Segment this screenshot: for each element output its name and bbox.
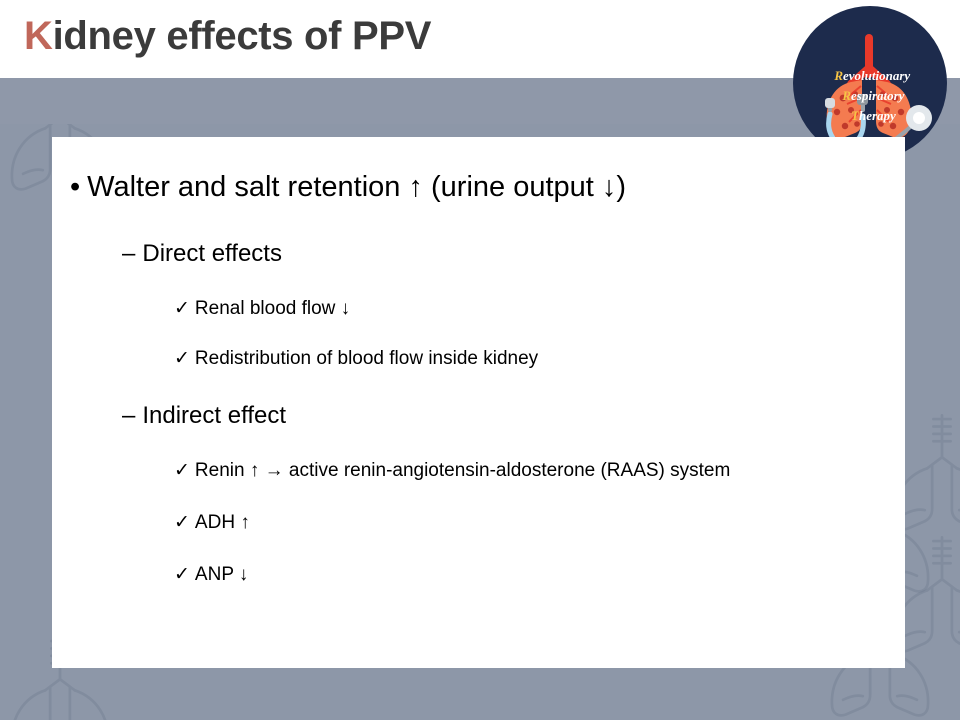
check-icon: ✓: [174, 347, 190, 370]
logo-line3-rest: herapy: [859, 108, 896, 123]
page-title-initial: K: [24, 14, 53, 58]
slide-canvas: Kidney effects of PPV: [0, 0, 960, 720]
bullet-item: ✓ANP ↓: [174, 563, 248, 586]
check-icon: ✓: [174, 459, 190, 482]
bullet-text: ADH ↑: [195, 512, 250, 533]
logo-line1-initial: R: [833, 68, 843, 83]
check-icon: ✓: [174, 511, 190, 534]
check-icon: ✓: [174, 563, 190, 586]
check-icon: ✓: [174, 297, 190, 320]
bullet-text: Direct effects: [142, 240, 282, 267]
bullet-item: •Walter and salt retention ↑ (urine outp…: [70, 171, 626, 204]
bullet-marker-dot: •: [70, 171, 80, 204]
bullet-text: Walter and salt retention ↑ (urine outpu…: [87, 171, 626, 203]
bullet-item: ✓Renal blood flow ↓: [174, 297, 350, 320]
bullet-text: ANP ↓: [195, 564, 249, 585]
bullet-item: –Indirect effect: [122, 402, 286, 430]
page-title: Kidney effects of PPV: [24, 14, 431, 59]
content-card: •Walter and salt retention ↑ (urine outp…: [52, 137, 905, 668]
bullet-item: ✓Redistribution of blood flow inside kid…: [174, 347, 538, 370]
logo-line1-rest: evolutionary: [843, 68, 910, 83]
logo-line2-initial: R: [841, 88, 851, 103]
bullet-text: Renal blood flow ↓: [195, 298, 350, 319]
bullet-marker-dash: –: [122, 240, 135, 268]
bullet-text: Redistribution of blood flow inside kidn…: [195, 348, 538, 369]
bullet-text: Renin ↑ → active renin-angiotensin-aldos…: [195, 460, 730, 481]
bullet-item: ✓ADH ↑: [174, 511, 250, 534]
bullet-marker-dash: –: [122, 402, 135, 430]
bullet-item: ✓Renin ↑ → active renin-angiotensin-aldo…: [174, 459, 730, 482]
logo-line2-rest: espiratory: [851, 88, 905, 103]
bullet-text: Indirect effect: [142, 402, 286, 429]
page-title-rest: idney effects of PPV: [53, 14, 432, 58]
bullet-item: –Direct effects: [122, 240, 282, 268]
